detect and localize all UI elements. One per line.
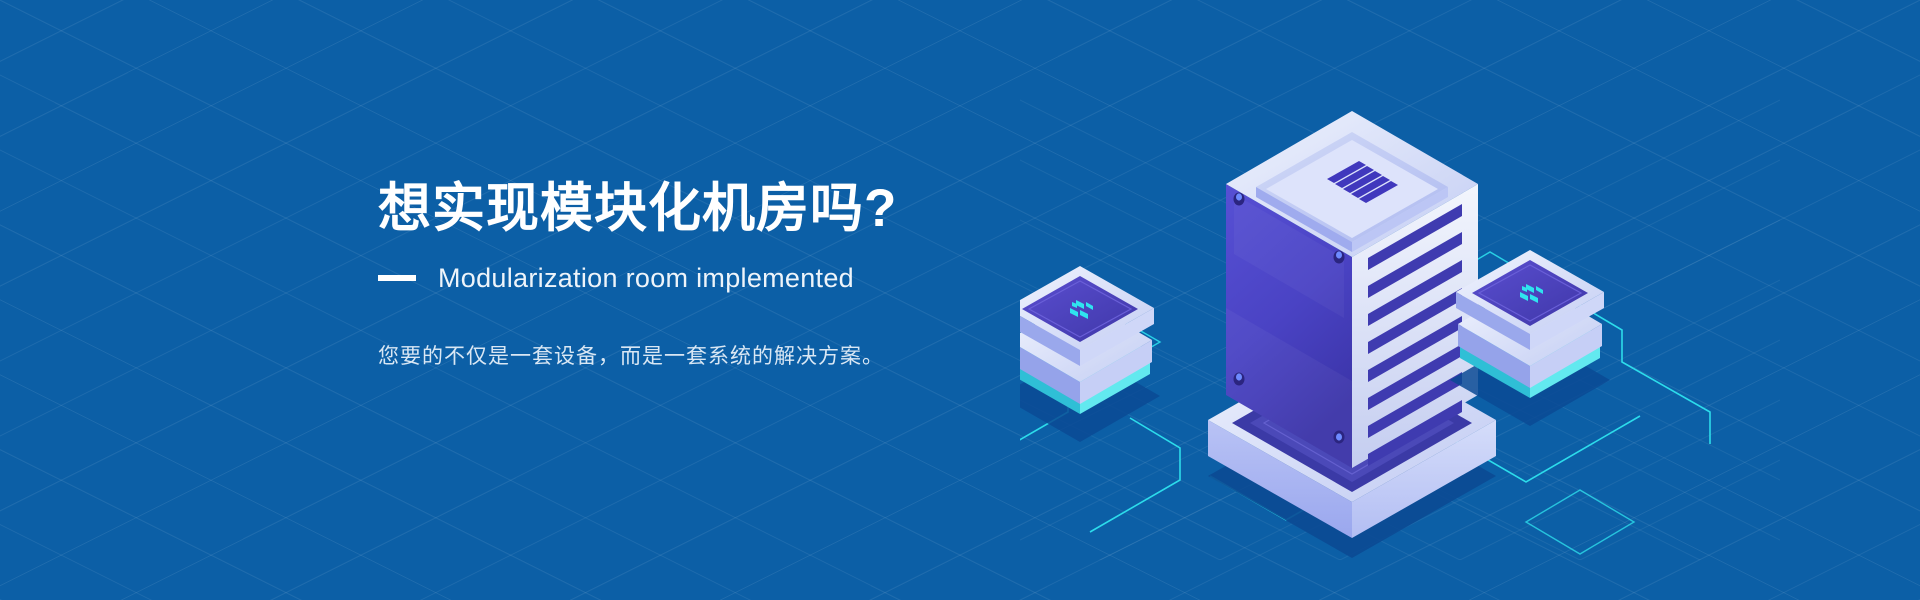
hero-banner: 想实现模块化机房吗? Modularization room implement… [0,0,1920,600]
chip-left [1020,266,1160,442]
subtitle-row: Modularization room implemented [378,263,1098,294]
server-tower [1208,111,1496,558]
hero-copy-block: 想实现模块化机房吗? Modularization room implement… [378,178,1098,394]
page-subtitle: Modularization room implemented [438,263,854,294]
isometric-server-illustration [1020,60,1780,560]
page-description: 您要的不仅是一套设备，而是一套系统的解决方案。 [378,340,1098,374]
divider-dash-icon [378,275,416,281]
page-title: 想实现模块化机房吗? [378,178,1098,241]
